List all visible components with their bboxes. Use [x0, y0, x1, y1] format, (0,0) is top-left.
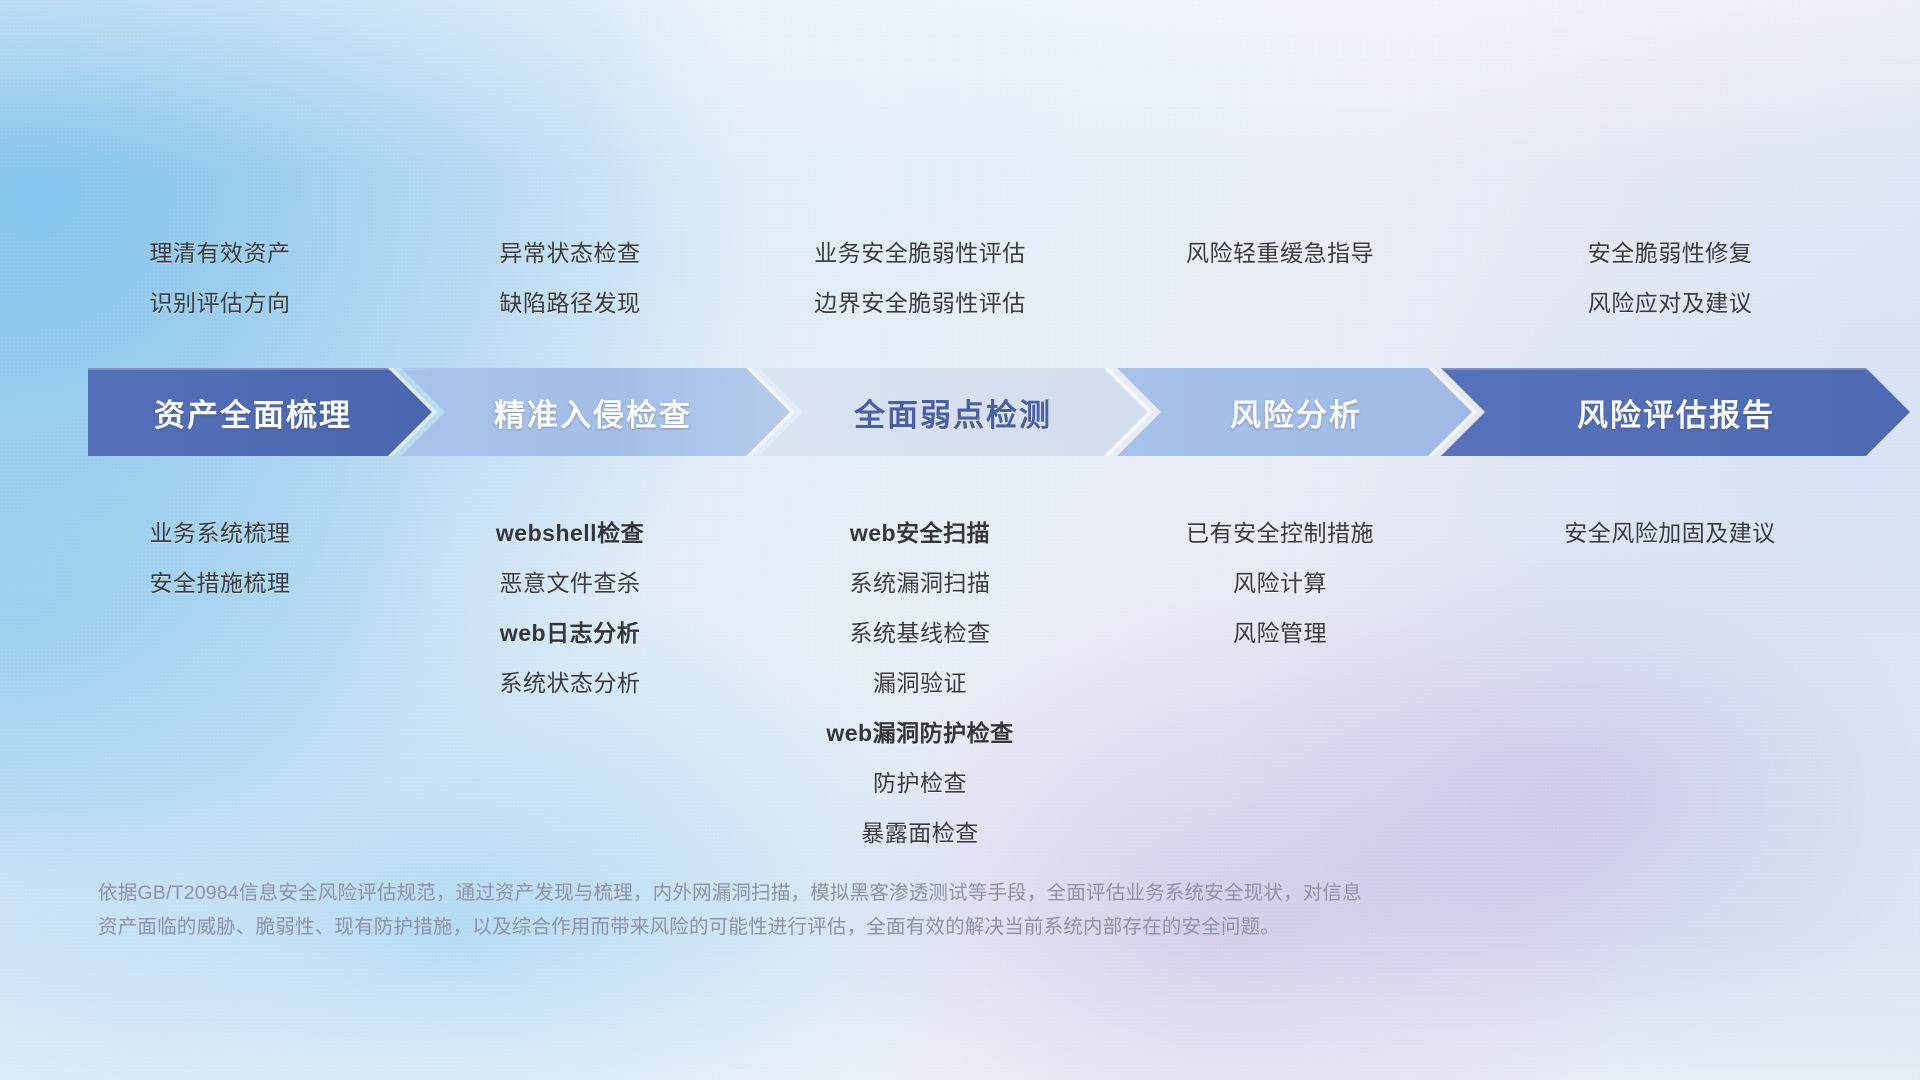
bottom-item: 系统漏洞扫描: [850, 558, 991, 608]
bottom-item: 业务系统梳理: [150, 508, 291, 558]
top-item: 异常状态检查: [500, 228, 641, 278]
top-column-5: 安全脆弱性修复 风险应对及建议: [1460, 228, 1880, 328]
bottom-item: web日志分析: [500, 608, 640, 658]
bottom-column-4: 已有安全控制措施 风险计算 风险管理: [1100, 508, 1460, 658]
footer-line-2: 资产面临的威胁、脆弱性、现有防护措施，以及综合作用而带来风险的可能性进行评估，全…: [98, 910, 1658, 944]
top-item: 风险应对及建议: [1588, 278, 1753, 328]
top-item: 业务安全脆弱性评估: [814, 228, 1026, 278]
bottom-item: 风险管理: [1233, 608, 1327, 658]
bottom-item: 风险计算: [1233, 558, 1327, 608]
top-item: 缺陷路径发现: [500, 278, 641, 328]
footer-line-1: 依据GB/T20984信息安全风险评估规范，通过资产发现与梳理，内外网漏洞扫描，…: [98, 876, 1658, 910]
bottom-column-5: 安全风险加固及建议: [1460, 508, 1880, 558]
bottom-column-3: web安全扫描 系统漏洞扫描 系统基线检查 漏洞验证 web漏洞防护检查 防护检…: [740, 508, 1100, 858]
bottom-item: 已有安全控制措施: [1186, 508, 1374, 558]
top-column-1: 理清有效资产 识别评估方向: [40, 228, 400, 328]
arrow-label-3[interactable]: 全面弱点检测: [778, 368, 1128, 456]
bottom-item: web安全扫描: [850, 508, 990, 558]
bottom-item: 系统基线检查: [850, 608, 991, 658]
top-item: 理清有效资产: [150, 228, 291, 278]
slide-canvas: 理清有效资产 识别评估方向 异常状态检查 缺陷路径发现 业务安全脆弱性评估 边界…: [0, 0, 1920, 1080]
bottom-column-1: 业务系统梳理 安全措施梳理: [40, 508, 400, 608]
top-column-4: 风险轻重缓急指导: [1100, 228, 1460, 278]
top-column-3: 业务安全脆弱性评估 边界安全脆弱性评估: [740, 228, 1100, 328]
arrow-label-2[interactable]: 精准入侵检查: [418, 368, 768, 456]
bottom-item: 漏洞验证: [873, 658, 967, 708]
process-arrow-band: 资产全面梳理 精准入侵检查 全面弱点检测 风险分析 风险评估报告: [88, 368, 1910, 456]
bottom-item: webshell检查: [496, 508, 644, 558]
top-column-2: 异常状态检查 缺陷路径发现: [400, 228, 740, 328]
top-descriptor-row: 理清有效资产 识别评估方向 异常状态检查 缺陷路径发现 业务安全脆弱性评估 边界…: [0, 228, 1920, 328]
top-item: 安全脆弱性修复: [1588, 228, 1753, 278]
bottom-descriptor-row: 业务系统梳理 安全措施梳理 webshell检查 恶意文件查杀 web日志分析 …: [0, 508, 1920, 858]
bottom-item: web漏洞防护检查: [826, 708, 1013, 758]
bottom-item: 安全措施梳理: [150, 558, 291, 608]
arrow-label-1[interactable]: 资产全面梳理: [88, 368, 418, 456]
bottom-item: 安全风险加固及建议: [1564, 508, 1776, 558]
top-item: 风险轻重缓急指导: [1186, 228, 1374, 278]
top-item: 边界安全脆弱性评估: [814, 278, 1026, 328]
bottom-item: 系统状态分析: [500, 658, 641, 708]
bottom-item: 恶意文件查杀: [500, 558, 641, 608]
bottom-item: 防护检查: [873, 758, 967, 808]
top-item: 识别评估方向: [150, 278, 291, 328]
footer-description: 依据GB/T20984信息安全风险评估规范，通过资产发现与梳理，内外网漏洞扫描，…: [98, 876, 1658, 944]
bottom-item: 暴露面检查: [861, 808, 979, 858]
arrow-label-4[interactable]: 风险分析: [1136, 368, 1456, 456]
arrow-label-5[interactable]: 风险评估报告: [1466, 368, 1886, 456]
bottom-column-2: webshell检查 恶意文件查杀 web日志分析 系统状态分析: [400, 508, 740, 708]
